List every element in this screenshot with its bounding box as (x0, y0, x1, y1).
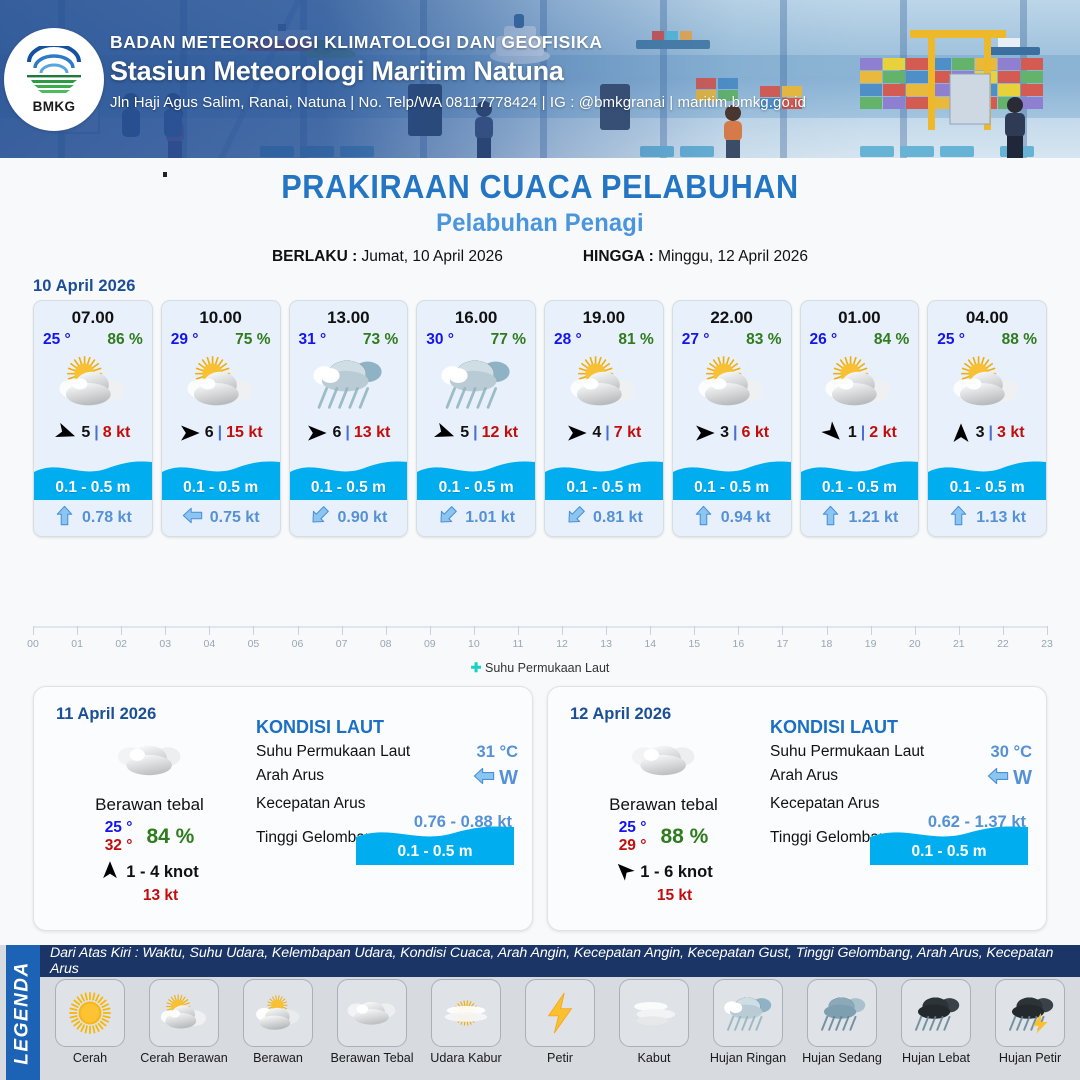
card-wave: 0.1 - 0.5 m (928, 450, 1046, 500)
hour-card[interactable]: 04.00 25 ° 88 % 3 | 3 kt 0.1 - 0.5 m (927, 300, 1047, 537)
legend-item: Petir (514, 979, 606, 1080)
current-dir-value: W (499, 767, 518, 789)
sst-label: Suhu Permukaan Laut (770, 743, 924, 761)
day-wind-range: 1 - 4 knot (126, 863, 198, 882)
chart-tick (959, 626, 960, 635)
legend-note-bar: Dari Atas Kiri : Waktu, Suhu Udara, Kele… (40, 945, 1080, 977)
chart-tick (738, 626, 739, 635)
card-current: 1.13 kt (928, 500, 1046, 536)
separator: | (345, 424, 349, 442)
legend-item-icon (995, 979, 1065, 1047)
card-wind: 5 | 8 kt (34, 416, 152, 450)
current-direction-arrow-icon (693, 505, 714, 531)
legend-item-label: Berawan (253, 1051, 303, 1065)
chart-tick (430, 626, 431, 635)
day-weather-icon (52, 731, 247, 789)
card-wind-dir-value: 5 (81, 424, 90, 442)
current-direction-arrow-icon (820, 505, 841, 531)
legend-item-label: Hujan Lebat (902, 1051, 970, 1065)
card-temp-hum: 30 ° 77 % (417, 328, 535, 349)
day-temp-max: 32 ° (105, 837, 133, 855)
valid-from-value: Jumat, 10 April 2026 (362, 248, 503, 265)
legend-item-icon (243, 979, 313, 1047)
legend-item: Udara Kabur (420, 979, 512, 1080)
legend-item-label: Hujan Ringan (710, 1051, 786, 1065)
day-wave-height: 0.1 - 0.5 m (870, 843, 1028, 861)
card-wave: 0.1 - 0.5 m (801, 450, 919, 500)
chart-tick-label: 02 (115, 638, 127, 650)
hour-card[interactable]: 16.00 30 ° 77 % 5 | 12 kt 0.1 - 0.5 m (416, 300, 536, 537)
header-text-block: BADAN METEOROLOGI KLIMATOLOGI DAN GEOFIS… (110, 32, 1050, 111)
current-direction-arrow-icon (473, 765, 495, 792)
separator: | (218, 424, 222, 442)
sea-row-current-dir: Arah Arus W (256, 767, 518, 795)
legend-item: Kabut (608, 979, 700, 1080)
card-current: 0.90 kt (290, 500, 408, 536)
legend-item-label: Cerah (73, 1051, 107, 1065)
card-current: 1.21 kt (801, 500, 919, 536)
card-wave: 0.1 - 0.5 m (545, 450, 663, 500)
legend-item-icon (149, 979, 219, 1047)
day-condition: Berawan tebal (566, 795, 761, 815)
chart-tick-label: 15 (688, 638, 700, 650)
legend-icon-row: Cerah Cerah Berawan Berawan (40, 979, 1080, 1080)
card-wind: 3 | 3 kt (928, 416, 1046, 450)
card-current-speed: 0.94 kt (721, 509, 771, 527)
bmkg-logo: BMKG (4, 28, 104, 131)
sea-conditions-title: KONDISI LAUT (256, 717, 518, 738)
chart-tick (1047, 626, 1048, 635)
card-current-speed: 0.81 kt (593, 509, 643, 527)
card-temp-hum: 26 ° 84 % (801, 328, 919, 349)
chart-tick (386, 626, 387, 635)
card-current-speed: 1.13 kt (976, 509, 1026, 527)
chart-tick (298, 626, 299, 635)
current-direction-arrow-icon (565, 505, 586, 531)
legend-item: Berawan Tebal (326, 979, 418, 1080)
card-current: 1.01 kt (417, 500, 535, 536)
card-wind-dir-value: 1 (848, 424, 857, 442)
chart-tick-label: 22 (997, 638, 1009, 650)
chart-tick-label: 01 (71, 638, 83, 650)
chart-tick (1003, 626, 1004, 635)
valid-from-label: BERLAKU : (272, 248, 357, 265)
chart-tick-label: 03 (159, 638, 171, 650)
wind-direction-arrow-icon (100, 860, 120, 885)
card-wave-height: 0.1 - 0.5 m (545, 479, 663, 497)
title-block: PRAKIRAAN CUACA PELABUHAN Pelabuhan Pena… (0, 168, 1080, 266)
legend-item: Hujan Lebat (890, 979, 982, 1080)
card-weather-icon (928, 350, 1046, 416)
chart-tick-label: 13 (600, 638, 612, 650)
wind-direction-arrow-icon (55, 422, 77, 444)
legend-item-icon (431, 979, 501, 1047)
legend-item: Cerah (44, 979, 136, 1080)
chart-tick (253, 626, 254, 635)
card-hour: 04.00 (928, 301, 1046, 328)
wind-direction-arrow-icon (822, 422, 844, 444)
sea-row-current-dir: Arah Arus W (770, 767, 1032, 795)
card-current-speed: 0.90 kt (337, 509, 387, 527)
day-weather-icon (566, 731, 761, 789)
card-wind-speed: 3 kt (997, 424, 1025, 442)
card-wind-dir-value: 4 (592, 424, 601, 442)
current-dir-label: Arah Arus (256, 767, 324, 785)
card-wave: 0.1 - 0.5 m (417, 450, 535, 500)
card-hour: 07.00 (34, 301, 152, 328)
card-temp-hum: 27 ° 83 % (673, 328, 791, 349)
card-wind: 1 | 2 kt (801, 416, 919, 450)
card-hour: 16.00 (417, 301, 535, 328)
current-direction-arrow-icon (948, 505, 969, 531)
current-direction-arrow-icon (54, 505, 75, 531)
legend-item-icon (619, 979, 689, 1047)
card-humidity: 84 % (874, 331, 909, 349)
card-temperature: 25 ° (43, 331, 71, 349)
legend-item: Hujan Ringan (702, 979, 794, 1080)
chart-axis-line (33, 626, 1047, 628)
day-wave-box: 0.1 - 0.5 m (356, 813, 514, 865)
current-speed-label: Kecepatan Arus (770, 795, 879, 813)
card-current: 0.75 kt (162, 500, 280, 536)
card-wind: 6 | 13 kt (290, 416, 408, 450)
card-wind: 6 | 15 kt (162, 416, 280, 450)
day-wave-height: 0.1 - 0.5 m (356, 843, 514, 861)
chart-tick-label: 21 (953, 638, 965, 650)
legend-item-label: Berawan Tebal (330, 1051, 413, 1065)
card-temperature: 27 ° (682, 331, 710, 349)
card-wave-height: 0.1 - 0.5 m (801, 479, 919, 497)
chart-tick-label: 18 (821, 638, 833, 650)
hour-card[interactable]: 19.00 28 ° 81 % 4 | 7 kt 0.1 - 0.5 m (544, 300, 664, 537)
card-wind-speed: 13 kt (354, 424, 390, 442)
chart-tick-label: 12 (556, 638, 568, 650)
card-wind-speed: 12 kt (482, 424, 518, 442)
card-temperature: 29 ° (171, 331, 199, 349)
bmkg-logo-text: BMKG (33, 99, 76, 114)
validity-line: BERLAKU : Jumat, 10 April 2026 HINGGA : … (0, 248, 1080, 266)
chart-tick (474, 626, 475, 635)
sst-label: Suhu Permukaan Laut (256, 743, 410, 761)
card-humidity: 77 % (491, 331, 526, 349)
legend-item: Berawan (232, 979, 324, 1080)
legend-item-label: Udara Kabur (430, 1051, 501, 1065)
card-hour: 01.00 (801, 301, 919, 328)
card-wave: 0.1 - 0.5 m (290, 450, 408, 500)
card-temp-hum: 28 ° 81 % (545, 328, 663, 349)
legend-item-label: Kabut (638, 1051, 671, 1065)
wind-direction-arrow-icon (566, 422, 588, 444)
card-weather-icon (34, 350, 152, 416)
chart-tick (77, 626, 78, 635)
card-current-speed: 1.21 kt (848, 509, 898, 527)
card-humidity: 83 % (746, 331, 781, 349)
card-wind-speed: 7 kt (614, 424, 642, 442)
card-wind: 3 | 6 kt (673, 416, 791, 450)
legend-item-label: Hujan Sedang (802, 1051, 882, 1065)
legend-item: Cerah Berawan (138, 979, 230, 1080)
chart-tick-label: 07 (336, 638, 348, 650)
chart-tick (165, 626, 166, 635)
chart-tick-label: 04 (204, 638, 216, 650)
hour-card[interactable]: 01.00 26 ° 84 % 1 | 2 kt 0.1 - 0.5 m (800, 300, 920, 537)
chart-tick-label: 17 (777, 638, 789, 650)
card-wind: 4 | 7 kt (545, 416, 663, 450)
day-panel-summary: Berawan tebal 25 ° 32 ° 84 % 1 - 4 knot … (52, 731, 247, 905)
plus-marker-icon: ✚ (471, 660, 482, 675)
separator: | (733, 424, 737, 442)
day-wind: 1 - 4 knot (52, 860, 247, 885)
sea-conditions: KONDISI LAUT Suhu Permukaan Laut 30 °C A… (770, 717, 1032, 859)
card-current-speed: 0.75 kt (210, 509, 260, 527)
daily-forecast-panels: 11 April 2026 Berawan tebal 25 ° 32 ° 84… (33, 686, 1047, 931)
chart-tick (606, 626, 607, 635)
card-temp-hum: 31 ° 73 % (290, 328, 408, 349)
card-wave: 0.1 - 0.5 m (162, 450, 280, 500)
card-wave-height: 0.1 - 0.5 m (290, 479, 408, 497)
chart-tick (694, 626, 695, 635)
day-gust: 13 kt (74, 887, 247, 905)
wind-direction-arrow-icon (306, 422, 328, 444)
card-wave-height: 0.1 - 0.5 m (162, 479, 280, 497)
card-wave-height: 0.1 - 0.5 m (928, 479, 1046, 497)
chart-tick (782, 626, 783, 635)
card-temperature: 28 ° (554, 331, 582, 349)
current-dir-value-wrap: W (987, 765, 1032, 792)
legend-item: Hujan Petir (984, 979, 1076, 1080)
chart-tick-label: 09 (424, 638, 436, 650)
valid-until-value: Minggu, 12 April 2026 (658, 248, 808, 265)
chart-tick (33, 626, 34, 635)
card-current-speed: 0.78 kt (82, 509, 132, 527)
chart-tick (342, 626, 343, 635)
chart-tick-label: 19 (865, 638, 877, 650)
card-weather-icon (290, 350, 408, 416)
agency-name: BADAN METEOROLOGI KLIMATOLOGI DAN GEOFIS… (110, 32, 1050, 53)
day-forecast-panel[interactable]: 12 April 2026 Berawan tebal 25 ° 29 ° 88… (547, 686, 1047, 931)
card-wave-height: 0.1 - 0.5 m (417, 479, 535, 497)
day-panel-date: 11 April 2026 (56, 705, 156, 724)
chart-legend: ✚ Suhu Permukaan Laut (0, 660, 1080, 676)
card-wave-height: 0.1 - 0.5 m (34, 479, 152, 497)
legend-bar: LEGENDA Dari Atas Kiri : Waktu, Suhu Uda… (0, 945, 1080, 1080)
legend-item-icon (807, 979, 877, 1047)
card-hour: 10.00 (162, 301, 280, 328)
card-wave-height: 0.1 - 0.5 m (673, 479, 791, 497)
legend-item-icon (901, 979, 971, 1047)
legend-note: Dari Atas Kiri : Waktu, Suhu Udara, Kele… (50, 945, 1080, 977)
card-weather-icon (417, 350, 535, 416)
chart-tick-label: 06 (292, 638, 304, 650)
card-weather-icon (162, 350, 280, 416)
hourly-forecast-row: 07.00 25 ° 86 % 5 | 8 kt 0.1 - 0.5 m (33, 300, 1047, 537)
card-current: 0.94 kt (673, 500, 791, 536)
card-temperature: 30 ° (426, 331, 454, 349)
day-forecast-panel[interactable]: 11 April 2026 Berawan tebal 25 ° 32 ° 84… (33, 686, 533, 931)
card-weather-icon (545, 350, 663, 416)
chart-tick (562, 626, 563, 635)
card-wind-speed: 8 kt (103, 424, 131, 442)
chart-tick-label: 14 (644, 638, 656, 650)
day-condition: Berawan tebal (52, 795, 247, 815)
card-wind-dir-value: 3 (720, 424, 729, 442)
wind-direction-arrow-icon (950, 422, 972, 444)
card-weather-icon (801, 350, 919, 416)
current-speed-label: Kecepatan Arus (256, 795, 365, 813)
card-humidity: 81 % (618, 331, 653, 349)
wind-direction-arrow-icon (694, 422, 716, 444)
separator: | (473, 424, 477, 442)
legend-side-text: LEGENDA (12, 961, 34, 1064)
chart-tick (650, 626, 651, 635)
chart-tick (209, 626, 210, 635)
chart-tick (121, 626, 122, 635)
current-dir-value: W (1013, 767, 1032, 789)
card-humidity: 75 % (235, 331, 270, 349)
day-humidity: 84 % (146, 825, 194, 849)
separator: | (989, 424, 993, 442)
card-temperature: 25 ° (937, 331, 965, 349)
card-wind-dir-value: 6 (332, 424, 341, 442)
card-humidity: 86 % (107, 331, 142, 349)
header-banner: BMKG BADAN METEOROLOGI KLIMATOLOGI DAN G… (0, 0, 1080, 158)
wind-direction-arrow-icon (614, 860, 634, 885)
chart-tick-label: 05 (248, 638, 260, 650)
chart-tick (871, 626, 872, 635)
legend-item-icon (55, 979, 125, 1047)
separator: | (861, 424, 865, 442)
card-humidity: 88 % (1002, 331, 1037, 349)
day-temp-min: 25 ° (619, 819, 647, 837)
card-temp-hum: 25 ° 88 % (928, 328, 1046, 349)
card-weather-icon (673, 350, 791, 416)
chart-tick-label: 23 (1041, 638, 1053, 650)
current-direction-arrow-icon (182, 505, 203, 531)
card-temperature: 26 ° (810, 331, 838, 349)
chart-tick (518, 626, 519, 635)
current-direction-arrow-icon (987, 765, 1009, 792)
wind-direction-arrow-icon (434, 422, 456, 444)
legend-item-label: Cerah Berawan (140, 1051, 228, 1065)
sea-row-sst: Suhu Permukaan Laut 30 °C (770, 743, 1032, 767)
card-wind-dir-value: 5 (460, 424, 469, 442)
sst-value: 31 °C (477, 743, 518, 762)
day-temps: 25 ° 32 ° 84 % (52, 819, 247, 855)
hour-card[interactable]: 07.00 25 ° 86 % 5 | 8 kt 0.1 - 0.5 m (33, 300, 153, 537)
card-wave: 0.1 - 0.5 m (673, 450, 791, 500)
current-dir-value-wrap: W (473, 765, 518, 792)
chart-tick-label: 11 (513, 638, 524, 650)
card-wind-speed: 6 kt (742, 424, 770, 442)
contact-line: Jln Haji Agus Salim, Ranai, Natuna | No.… (110, 94, 1050, 111)
chart-tick-label: 10 (468, 638, 480, 650)
legend-item-label: Petir (547, 1051, 573, 1065)
sea-conditions-title: KONDISI LAUT (770, 717, 1032, 738)
hour-card[interactable]: 13.00 31 ° 73 % 6 | 13 kt 0.1 - 0.5 m (289, 300, 409, 537)
current-dir-label: Arah Arus (770, 767, 838, 785)
legend-side-label: LEGENDA (6, 945, 40, 1080)
hour-card[interactable]: 22.00 27 ° 83 % 3 | 6 kt 0.1 - 0.5 m (672, 300, 792, 537)
chart-legend-label: Suhu Permukaan Laut (485, 661, 609, 675)
card-wind-speed: 15 kt (226, 424, 262, 442)
card-current: 0.78 kt (34, 500, 152, 536)
current-direction-arrow-icon (309, 505, 330, 531)
day-wind-range: 1 - 6 knot (640, 863, 712, 882)
day-wave-box: 0.1 - 0.5 m (870, 813, 1028, 865)
separator: | (94, 424, 98, 442)
legend-item-icon (337, 979, 407, 1047)
chart-tick-label: 00 (27, 638, 39, 650)
card-current-speed: 1.01 kt (465, 509, 515, 527)
sea-row-sst: Suhu Permukaan Laut 31 °C (256, 743, 518, 767)
day-temp-min: 25 ° (105, 819, 133, 837)
current-direction-arrow-icon (437, 505, 458, 531)
page-title: PRAKIRAAN CUACA PELABUHAN (38, 168, 1042, 206)
legend-item: Hujan Sedang (796, 979, 888, 1080)
card-humidity: 73 % (363, 331, 398, 349)
card-wave: 0.1 - 0.5 m (34, 450, 152, 500)
card-hour: 19.00 (545, 301, 663, 328)
card-wind-dir-value: 3 (976, 424, 985, 442)
chart-tick (827, 626, 828, 635)
valid-until-label: HINGGA : (583, 248, 654, 265)
day-temp-max: 29 ° (619, 837, 647, 855)
day-panel-date: 12 April 2026 (570, 705, 671, 724)
card-wind: 5 | 12 kt (417, 416, 535, 450)
day-temps: 25 ° 29 ° 88 % (566, 819, 761, 855)
port-subtitle: Pelabuhan Penagi (27, 209, 1053, 238)
day0-date: 10 April 2026 (33, 277, 136, 296)
chart-tick-label: 08 (380, 638, 392, 650)
chart-tick (915, 626, 916, 635)
wind-direction-arrow-icon (179, 422, 201, 444)
chart-tick-label: 20 (909, 638, 921, 650)
chart-tick-label: 16 (733, 638, 745, 650)
card-temp-hum: 25 ° 86 % (34, 328, 152, 349)
day-panel-summary: Berawan tebal 25 ° 29 ° 88 % 1 - 6 knot … (566, 731, 761, 905)
card-temperature: 31 ° (299, 331, 327, 349)
card-hour: 13.00 (290, 301, 408, 328)
sea-conditions: KONDISI LAUT Suhu Permukaan Laut 31 °C A… (256, 717, 518, 859)
card-temp-hum: 29 ° 75 % (162, 328, 280, 349)
legend-item-icon (525, 979, 595, 1047)
station-name: Stasiun Meteorologi Maritim Natuna (110, 56, 1050, 87)
separator: | (605, 424, 609, 442)
day-gust: 15 kt (588, 887, 761, 905)
legend-item-label: Hujan Petir (999, 1051, 1061, 1065)
bmkg-logo-icon (23, 46, 85, 98)
day-wind: 1 - 6 knot (566, 860, 761, 885)
sst-value: 30 °C (991, 743, 1032, 762)
card-current: 0.81 kt (545, 500, 663, 536)
card-hour: 22.00 (673, 301, 791, 328)
day-humidity: 88 % (660, 825, 708, 849)
hour-card[interactable]: 10.00 29 ° 75 % 6 | 15 kt 0.1 - 0.5 m (161, 300, 281, 537)
card-wind-dir-value: 6 (205, 424, 214, 442)
legend-item-icon (713, 979, 783, 1047)
card-wind-speed: 2 kt (869, 424, 897, 442)
